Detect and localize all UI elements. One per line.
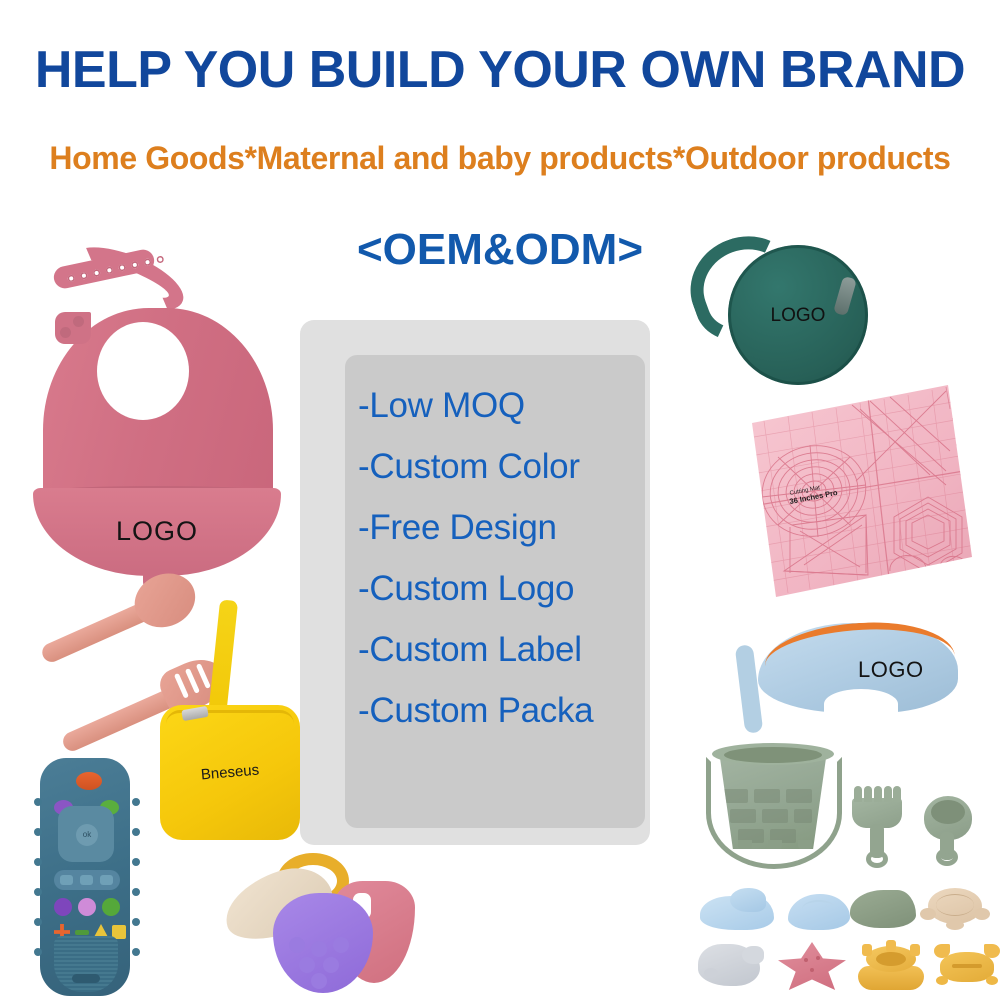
product-glasses-case: LOGO [728,615,963,745]
remote-btn-pink [78,898,96,916]
product-silicone-bib: LOGO [25,250,295,600]
bib-logo-text: LOGO [25,516,289,547]
feature-item-free-design: -Free Design [358,510,658,545]
product-sand-scoop [918,796,978,870]
remote-hand-hole [72,974,100,983]
remote-power-button [76,772,102,790]
cutting-mat-svg: Cutting Mat 36 Inches Pro [740,375,980,605]
page-headline: HELP YOU BUILD YOUR OWN BRAND [0,40,1000,100]
scoop-hollow [931,800,965,824]
product-green-round-pouch: LOGO [680,215,880,400]
sand-mold-dolphin [700,888,774,932]
product-yellow-pouch: Bneseus [158,600,308,850]
sand-mold-leaf [850,888,916,930]
remote-media-bar [54,870,120,890]
sand-mold-shell [788,890,850,932]
feature-item-custom-color: -Custom Color [358,449,658,484]
product-fruit-teether [215,845,435,1000]
product-remote-teether: ok [32,758,142,998]
feature-list: -Low MOQ -Custom Color -Free Design -Cus… [358,388,658,828]
sand-mold-castle [856,940,926,990]
bucket-interior [724,747,822,763]
feature-item-custom-label: -Custom Label [358,632,658,667]
green-pouch-logo-text: LOGO [728,305,868,327]
banner-stage: HELP YOU BUILD YOUR OWN BRAND Home Goods… [0,0,1000,1000]
glasses-case-notch [824,689,898,719]
remote-minus-icon [75,930,89,935]
product-cutting-mat: Cutting Mat 36 Inches Pro [740,375,980,605]
sand-mold-starfish [778,942,846,990]
product-sand-rake [848,798,906,870]
remote-ok-button: ok [76,824,98,846]
page-subheadline: Home Goods*Maternal and baby products*Ou… [0,140,1000,177]
bib-neck-opening [97,322,189,420]
remote-textured-grip [54,936,118,992]
product-beach-bucket [700,735,850,875]
bib-snap-button [55,312,91,344]
feature-item-low-moq: -Low MOQ [358,388,658,423]
scoop-hang-ring [936,848,958,866]
rake-hang-ring [866,850,888,868]
sand-mold-crab [934,942,1000,990]
remote-btn-green2 [102,898,120,916]
pouch-wrist-strap [208,599,238,718]
sand-mold-turtle [920,886,990,932]
remote-btn-purple2 [54,898,72,916]
feature-item-custom-logo: -Custom Logo [358,571,658,606]
sand-mold-elephant [698,940,766,990]
glasses-case-strap [735,644,764,734]
teether-purple-grape [273,893,373,993]
glasses-case-logo-text: LOGO [858,657,948,683]
feature-item-custom-packa: -Custom Packa [358,693,658,728]
